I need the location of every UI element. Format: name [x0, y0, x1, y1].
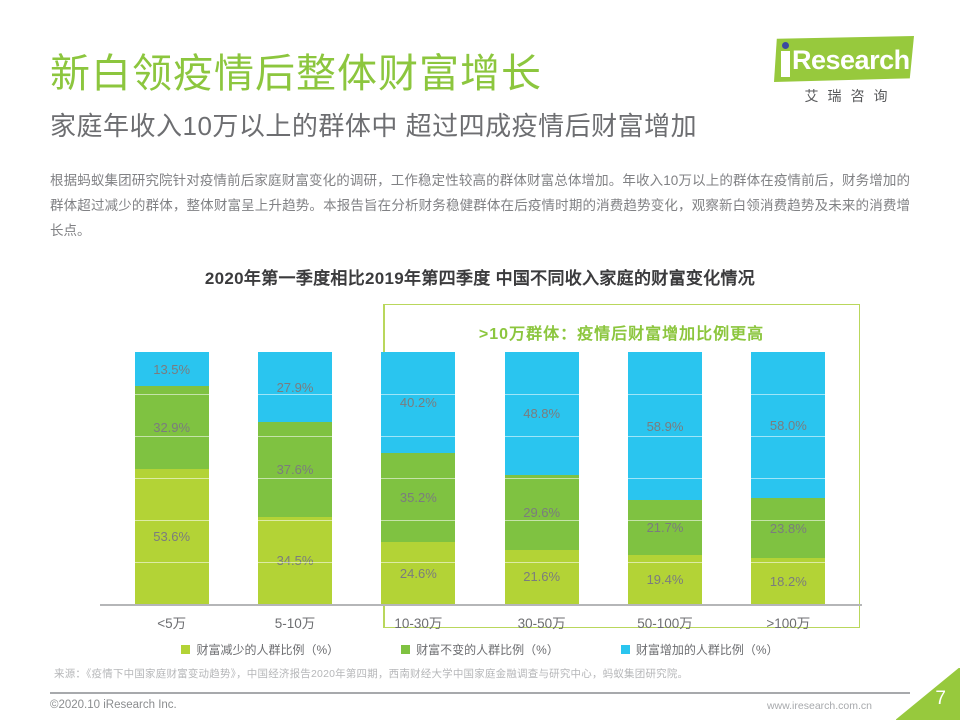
bar-segment[interactable]: 21.6%: [505, 550, 579, 604]
highlight-callout-label: >10万群体：疫情后财富增加比例更高: [383, 320, 860, 344]
footer-divider: [50, 692, 910, 694]
footer-copyright: ©2020.10 iResearch Inc.: [50, 699, 177, 711]
bar-segment-label: 40.2%: [400, 395, 437, 410]
bar-segment[interactable]: 18.2%: [751, 558, 825, 604]
page-number: 7: [935, 688, 946, 710]
bar-segment[interactable]: 40.2%: [381, 352, 455, 453]
bar-segment-label: 21.6%: [523, 569, 560, 584]
bar-segment[interactable]: 24.6%: [381, 542, 455, 604]
bar-segment-label: 24.6%: [400, 566, 437, 581]
legend-label: 财富增加的人群比例（%）: [636, 641, 779, 658]
chart-area: >10万群体：疫情后财富增加比例更高 13.5%32.9%53.6%27.9%3…: [50, 300, 910, 630]
page-title: 新白领疫情后整体财富增长: [50, 48, 542, 100]
chart-gridline: [110, 394, 850, 395]
slide-page: 新白领疫情后整体财富增长 家庭年收入10万以上的群体中 超过四成疫情后财富增加 …: [0, 0, 960, 720]
bar-segment-label: 27.9%: [277, 380, 314, 395]
x-axis-tick-label: 30-50万: [487, 612, 597, 632]
bar-segment-label: 32.9%: [153, 420, 190, 435]
x-axis-tick-label: >100万: [733, 612, 843, 632]
iresearch-logo: Research 艾瑞咨询: [756, 36, 916, 110]
bar-segment-label: 58.9%: [647, 419, 684, 434]
legend-item[interactable]: 财富不变的人群比例（%）: [401, 641, 559, 658]
bar-segment-label: 21.7%: [647, 520, 684, 535]
bar-segment-label: 53.6%: [153, 529, 190, 544]
bar-segment[interactable]: 35.2%: [381, 453, 455, 542]
logo-wordmark: Research: [792, 45, 910, 75]
bar-segment-label: 37.6%: [277, 462, 314, 477]
chart-legend: 财富减少的人群比例（%）财富不变的人群比例（%）财富增加的人群比例（%）: [50, 638, 910, 660]
logo-i-dot-icon: [782, 42, 789, 49]
chart-title: 2020年第一季度相比2019年第四季度 中国不同收入家庭的财富变化情况: [0, 264, 960, 289]
footer-website: www.iresearch.com.cn: [767, 700, 872, 712]
x-axis-tick-label: 10-30万: [363, 612, 473, 632]
bar-segment[interactable]: 27.9%: [258, 352, 332, 422]
bar-segment[interactable]: 58.0%: [751, 352, 825, 498]
bar-segment-label: 29.6%: [523, 505, 560, 520]
legend-swatch-icon: [621, 645, 630, 654]
x-axis-tick-label: <5万: [117, 612, 227, 632]
bar-segment-label: 58.0%: [770, 418, 807, 433]
bar-segment[interactable]: 34.5%: [258, 517, 332, 604]
bar-segment[interactable]: 32.9%: [135, 386, 209, 469]
corner-triangle-shape: [896, 668, 960, 720]
chart-gridline: [110, 520, 850, 521]
legend-item[interactable]: 财富增加的人群比例（%）: [621, 641, 779, 658]
bar-segment-label: 18.2%: [770, 574, 807, 589]
body-paragraph: 根据蚂蚁集团研究院针对疫情前后家庭财富变化的调研，工作稳定性较高的群体财富总体增…: [50, 168, 910, 243]
legend-item[interactable]: 财富减少的人群比例（%）: [181, 641, 339, 658]
x-axis-tick-label: 50-100万: [610, 612, 720, 632]
chart-gridline: [110, 562, 850, 563]
legend-label: 财富减少的人群比例（%）: [196, 641, 339, 658]
page-subtitle: 家庭年收入10万以上的群体中 超过四成疫情后财富增加: [50, 108, 697, 144]
logo-i-stem-icon: [781, 51, 790, 77]
source-note: 来源：《疫情下中国家庭财富变动趋势》，中国经济报告2020年第四期，西南财经大学…: [54, 666, 688, 681]
chart-plot: 13.5%32.9%53.6%27.9%37.6%34.5%40.2%35.2%…: [110, 352, 850, 604]
legend-swatch-icon: [401, 645, 410, 654]
x-axis-tick-label: 5-10万: [240, 612, 350, 632]
x-axis-line: [100, 604, 862, 606]
legend-swatch-icon: [181, 645, 190, 654]
chart-gridline: [110, 478, 850, 479]
bar-segment[interactable]: 48.8%: [505, 352, 579, 475]
bar-segment[interactable]: 23.8%: [751, 498, 825, 558]
legend-label: 财富不变的人群比例（%）: [416, 641, 559, 658]
bar-segment-label: 48.8%: [523, 406, 560, 421]
bar-segment-label: 13.5%: [153, 362, 190, 377]
logo-chinese-name: 艾瑞咨询: [776, 86, 916, 106]
chart-gridline: [110, 436, 850, 437]
bar-segment[interactable]: 13.5%: [135, 352, 209, 386]
bar-segment-label: 34.5%: [277, 553, 314, 568]
bar-segment-label: 23.8%: [770, 521, 807, 536]
bar-segment-label: 35.2%: [400, 490, 437, 505]
page-corner-decoration: 7: [896, 668, 960, 720]
bar-segment[interactable]: 21.7%: [628, 500, 702, 555]
bar-segment[interactable]: 53.6%: [135, 469, 209, 604]
bar-segment-label: 19.4%: [647, 572, 684, 587]
bar-segment[interactable]: 29.6%: [505, 475, 579, 550]
